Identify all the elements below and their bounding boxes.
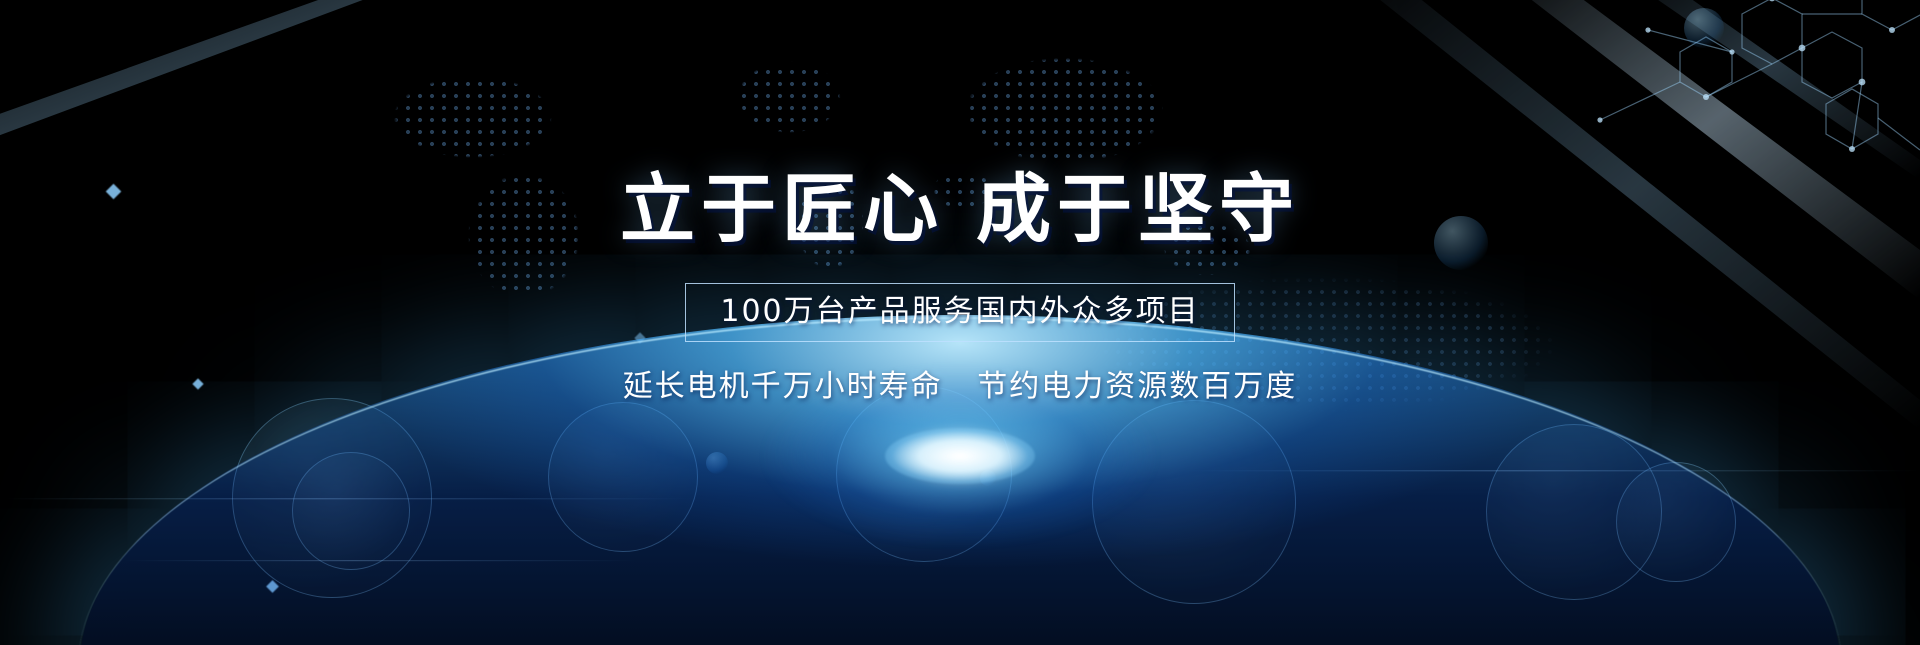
hero-banner: 立于匠心 成于坚守 100万台产品服务国内外众多项目 延长电机千万小时寿命 节约… [0,0,1920,645]
subtitle-box: 100万台产品服务国内外众多项目 [685,283,1234,342]
banner-tagline: 延长电机千万小时寿命 节约电力资源数百万度 [623,370,1298,403]
subtitle-text: 100万台产品服务国内外众多项目 [720,295,1199,328]
banner-content: 立于匠心 成于坚守 100万台产品服务国内外众多项目 延长电机千万小时寿命 节约… [0,0,1920,645]
banner-headline: 立于匠心 成于坚守 [620,172,1300,247]
